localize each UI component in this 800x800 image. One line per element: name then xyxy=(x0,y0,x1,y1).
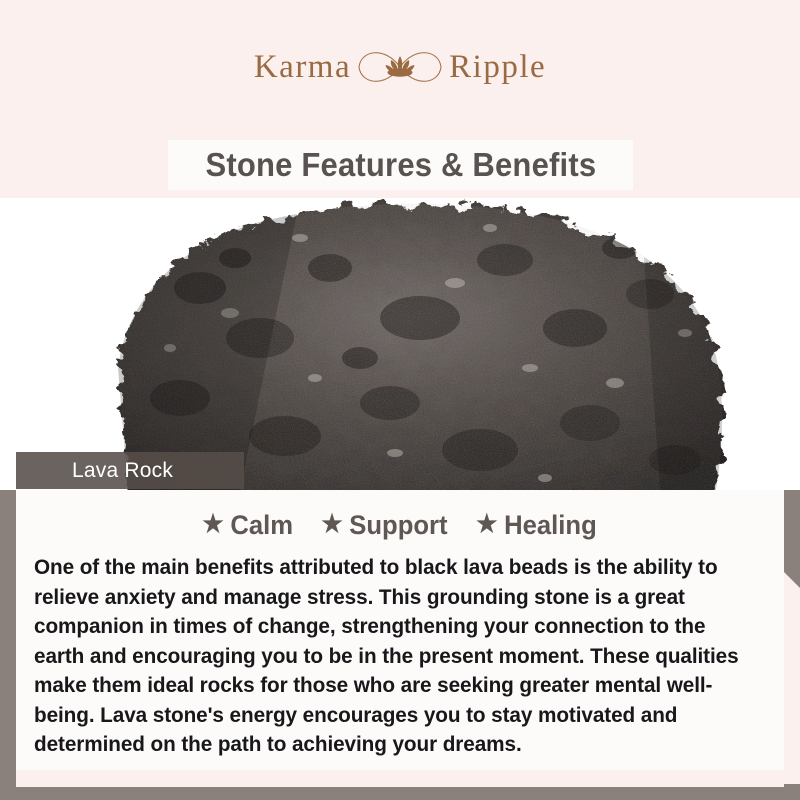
rock-illustration xyxy=(0,198,800,490)
star-icon: ★ xyxy=(202,512,223,537)
photo-caption-label: Lava Rock xyxy=(16,459,173,483)
benefit-label-healing: Healing xyxy=(504,510,597,541)
footer-spacer xyxy=(16,770,784,787)
lava-rock-photo xyxy=(0,198,800,490)
lotus-infinity-icon xyxy=(357,42,443,92)
page-title: Stone Features & Benefits xyxy=(205,146,596,184)
brand-name-left: Karma xyxy=(254,51,351,84)
benefit-item-calm: ★ Calm xyxy=(202,510,293,541)
benefit-label-calm: Calm xyxy=(230,510,293,541)
brand-name-right: Ripple xyxy=(449,51,546,84)
star-icon: ★ xyxy=(321,512,342,537)
benefit-item-healing: ★ Healing xyxy=(476,510,597,541)
star-icon: ★ xyxy=(476,512,497,537)
infographic-card: Karma xyxy=(0,0,800,800)
description-paragraph: One of the main benefits attributed to b… xyxy=(34,553,760,760)
benefit-label-support: Support xyxy=(349,510,447,541)
photo-caption-banner: Lava Rock xyxy=(16,452,244,489)
benefit-item-support: ★ Support xyxy=(321,510,447,541)
brand-logo: Karma xyxy=(0,42,800,92)
page-title-box: Stone Features & Benefits xyxy=(168,140,633,190)
benefits-row: ★ Calm ★ Support ★ Healing xyxy=(16,510,784,541)
content-panel: ★ Calm ★ Support ★ Healing One of the ma… xyxy=(16,490,784,770)
